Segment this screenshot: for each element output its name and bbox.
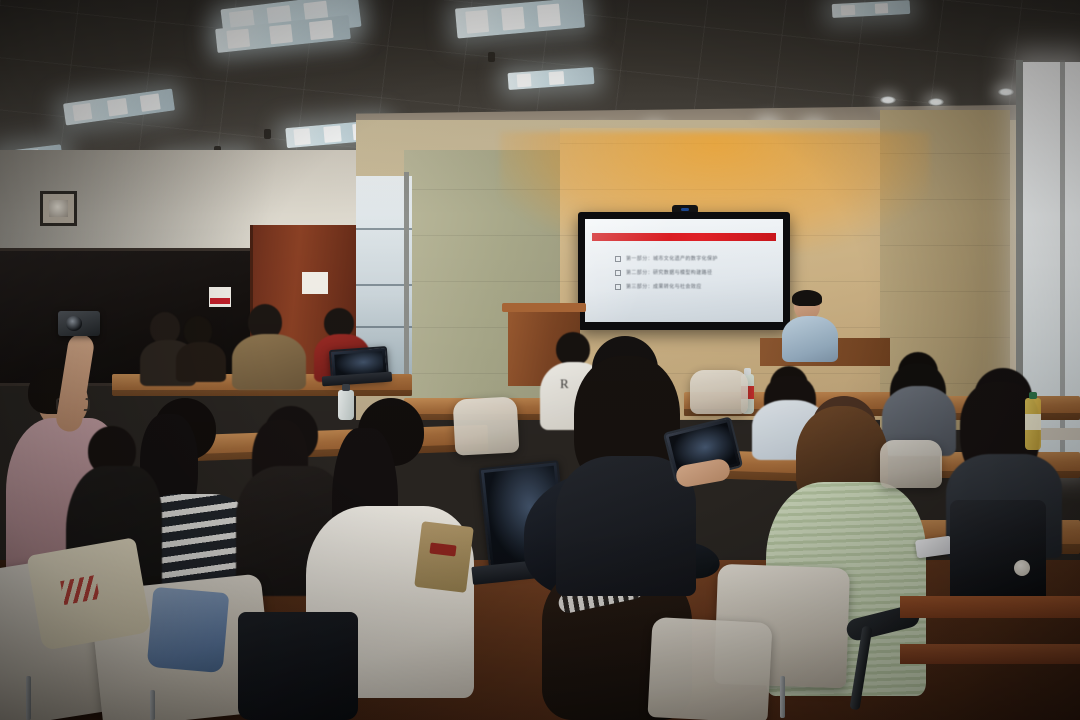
conference-chair[interactable] [880, 440, 942, 488]
torso [176, 342, 226, 382]
ceiling-sprinkler [488, 52, 495, 62]
bottle-label [1025, 414, 1041, 430]
wooden-bench-right [900, 644, 1080, 664]
presenter [780, 292, 850, 362]
attendee-tan-jacket [232, 304, 306, 390]
conference-chair[interactable] [647, 617, 772, 720]
torso [232, 334, 306, 390]
bottle-cap [744, 368, 751, 375]
bottle-cap [1029, 392, 1038, 399]
red-wall-notice [209, 287, 231, 307]
wall-clock [40, 191, 77, 226]
chair-leg [26, 676, 31, 720]
denim-jacket [147, 587, 230, 673]
chair-leg [150, 690, 155, 720]
camera-lens-icon [66, 316, 82, 331]
screen-glare [585, 219, 783, 322]
presentation-slide: 第一部分：城市文化遗产的数字化保护 第二部分：研究数据与模型构建路径 第三部分：… [585, 219, 783, 322]
presenter-torso [782, 316, 838, 362]
lectern-top [502, 303, 586, 312]
bag-charm [1014, 560, 1030, 576]
compact-camera [58, 311, 100, 336]
chair-leg [780, 676, 785, 718]
recessed-downlight [998, 88, 1014, 96]
conference-chair[interactable] [690, 370, 748, 414]
dark-bag-front [238, 612, 358, 720]
attendee-dark-back [176, 316, 226, 378]
cup-lid [342, 384, 351, 391]
conference-chair[interactable] [453, 396, 520, 455]
recessed-downlight [928, 98, 944, 106]
lecture-hall-photo: 第一部分：城市文化遗产的数字化保护 第二部分：研究数据与模型构建路径 第三部分：… [0, 0, 1080, 720]
wooden-bench-right [900, 596, 1080, 618]
bag-strap [414, 521, 474, 593]
presenter-hair [792, 290, 822, 306]
ceiling-sprinkler [264, 129, 271, 139]
tea-bottle[interactable] [1025, 398, 1041, 450]
desk-cup[interactable] [338, 390, 354, 420]
recessed-downlight [880, 96, 896, 104]
window-frame-left [404, 172, 409, 392]
door-notice [302, 272, 328, 294]
